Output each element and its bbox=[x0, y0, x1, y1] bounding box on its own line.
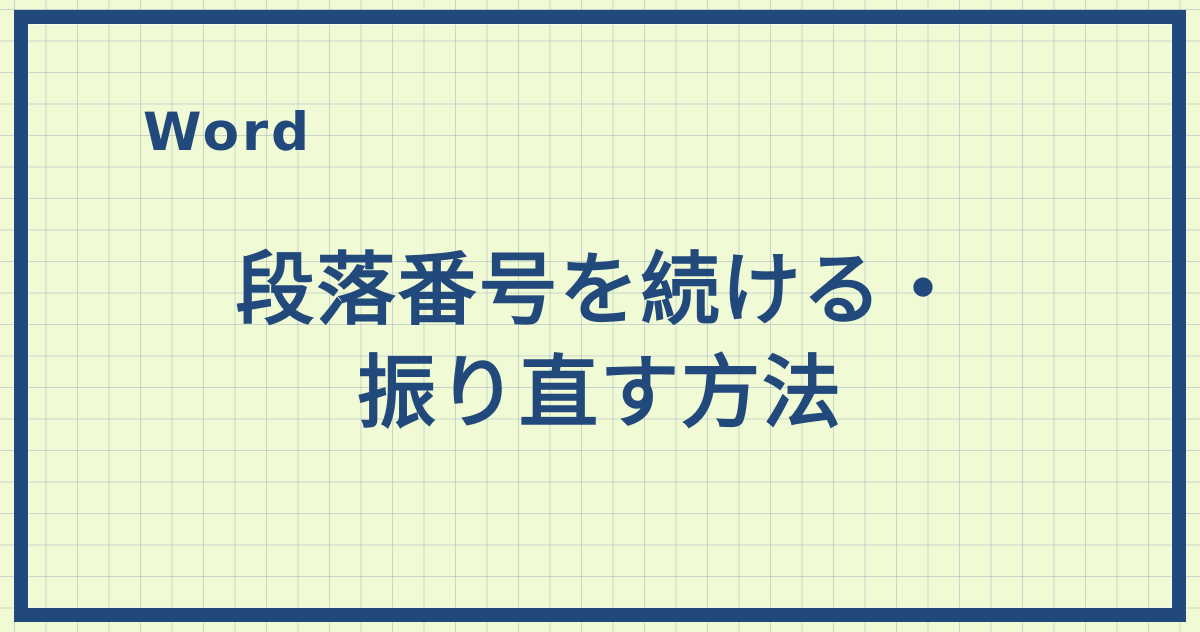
content-area: Word 段落番号を続ける・ 振り直す方法 bbox=[28, 24, 1172, 608]
title-line-1: 段落番号を続ける・ bbox=[28, 239, 1172, 342]
page-title: 段落番号を続ける・ 振り直す方法 bbox=[28, 239, 1172, 445]
thumbnail-card: Word 段落番号を続ける・ 振り直す方法 bbox=[0, 0, 1200, 632]
eyebrow-category-label: Word bbox=[143, 106, 312, 159]
title-line-2: 振り直す方法 bbox=[28, 342, 1172, 445]
